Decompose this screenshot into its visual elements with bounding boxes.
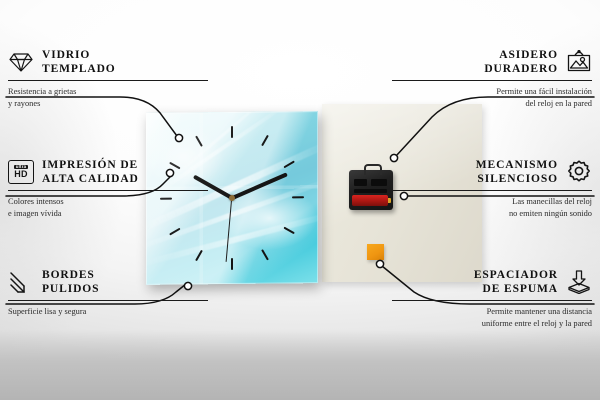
callout-header: VIDRIOTEMPLADO [8,48,208,76]
polished-edges-icon [8,269,34,295]
mechanism-detail [354,189,387,193]
callout-divider [392,300,592,301]
callout-espaciador-de-espuma[interactable]: ESPACIADORDE ESPUMA Permite mantener una… [392,268,592,329]
callout-description: Colores intensose imagen vívida [8,196,208,219]
callout-title: MECANISMOSILENCIOSO [476,158,558,186]
callout-vidrio-templado[interactable]: VIDRIOTEMPLADO Resistencia a grietasy ra… [8,48,208,109]
callout-title: VIDRIOTEMPLADO [42,48,116,76]
callout-bordes-pulidos[interactable]: BORDESPULIDOS Superficie lisa y segura [8,268,208,318]
callout-divider [8,300,208,301]
callout-divider [8,190,208,191]
gear-icon [566,159,592,185]
background-floor [0,330,600,400]
callout-description: Permite mantener una distanciauniforme e… [392,306,592,329]
mechanism-detail [354,179,367,186]
callout-header: ASIDERODURADERO [392,48,592,76]
callout-title: ASIDERODURADERO [484,48,558,76]
callout-header: ESPACIADORDE ESPUMA [392,268,592,296]
diamond-icon [8,49,34,75]
callout-divider [392,190,592,191]
callout-header: MECANISMOSILENCIOSO [392,158,592,186]
callout-description: Permite una fácil instalacióndel reloj e… [392,86,592,109]
wall-hanger-icon [566,49,592,75]
callout-divider [8,80,208,81]
callout-mecanismo-silencioso[interactable]: MECANISMOSILENCIOSO Las manecillas del r… [392,158,592,219]
foam-spacer-icon [566,269,592,295]
callout-title: IMPRESIÓN DEALTA CALIDAD [42,158,139,186]
mechanism-battery [352,195,388,206]
mechanism-hook [364,164,382,175]
callout-title: BORDESPULIDOS [42,268,99,296]
callout-impresion-alta-calidad[interactable]: ultra HD IMPRESIÓN DEALTA CALIDAD Colore… [8,158,208,219]
mechanism-detail [371,179,387,186]
infographic-stage: VIDRIOTEMPLADO Resistencia a grietasy ra… [0,0,600,400]
callout-header: BORDESPULIDOS [8,268,208,296]
callout-title: ESPACIADORDE ESPUMA [474,268,558,296]
callout-header: ultra HD IMPRESIÓN DEALTA CALIDAD [8,158,208,186]
callout-asidero-duradero[interactable]: ASIDERODURADERO Permite una fácil instal… [392,48,592,109]
callout-description: Las manecillas del relojno emiten ningún… [392,196,592,219]
callout-description: Superficie lisa y segura [8,306,208,317]
ultra-hd-icon: ultra HD [8,159,34,185]
foam-spacer-sample [367,244,384,260]
callout-divider [392,80,592,81]
hd-icon-main-label: HD [14,170,27,179]
clock-mechanism [349,170,393,210]
callout-description: Resistencia a grietasy rayones [8,86,208,109]
